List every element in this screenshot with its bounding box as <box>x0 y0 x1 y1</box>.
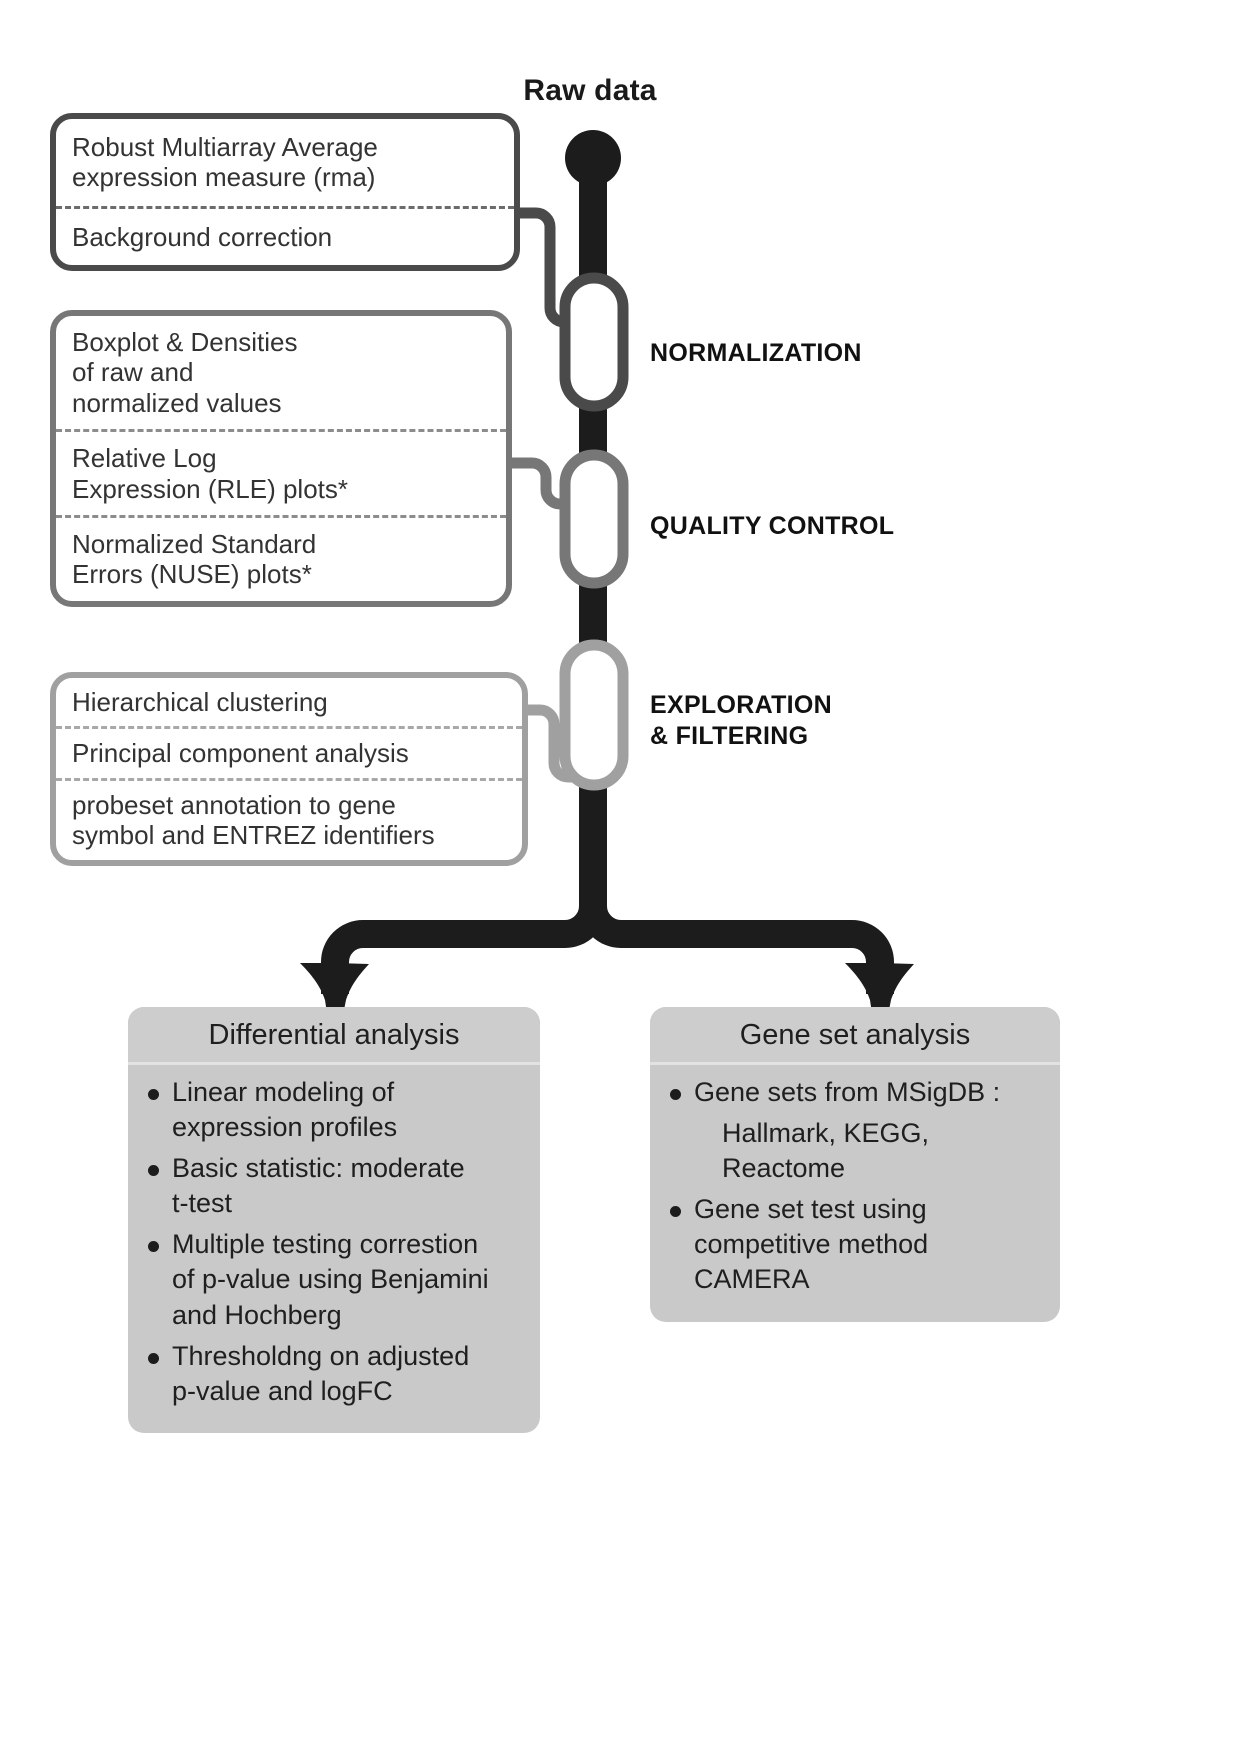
bullet-list: Gene sets from MSigDB : Hallmark, KEGG,R… <box>664 1075 1046 1298</box>
stage-marker-quality-control <box>565 455 623 583</box>
list-item: Gene sets from MSigDB : <box>664 1075 1046 1110</box>
outcome-panel-gene-set-analysis: Gene set analysis Gene sets from MSigDB … <box>650 1007 1060 1322</box>
panel-body: Linear modeling ofexpression profiles Ba… <box>128 1065 540 1433</box>
panel-body: Gene sets from MSigDB : Hallmark, KEGG,R… <box>650 1065 1060 1322</box>
stage-label-quality-control: QUALITY CONTROL <box>650 511 894 542</box>
list-item: Linear modeling ofexpression profiles <box>142 1075 526 1145</box>
stage-label-exploration: EXPLORATION& FILTERING <box>650 690 832 751</box>
outcome-panel-differential-analysis: Differential analysis Linear modeling of… <box>128 1007 540 1433</box>
stage-item: Relative LogExpression (RLE) plots* <box>56 429 506 515</box>
stage-marker-exploration <box>565 645 623 785</box>
stage-item: Background correction <box>56 206 514 265</box>
stage-label-normalization: NORMALIZATION <box>650 338 862 369</box>
list-item: Gene set test usingcompetitive methodCAM… <box>664 1192 1046 1297</box>
panel-title: Differential analysis <box>128 1007 540 1065</box>
panel-title: Gene set analysis <box>650 1007 1060 1065</box>
stage-item: probeset annotation to genesymbol and EN… <box>56 778 522 860</box>
list-item: Basic statistic: moderatet-test <box>142 1151 526 1221</box>
stage-item: Boxplot & Densitiesof raw andnormalized … <box>56 316 506 429</box>
branch-left <box>335 880 593 994</box>
workflow-diagram: Raw data NORMALIZATION QUALITY CONTROL E… <box>0 0 1240 1753</box>
stage-box-normalization: Robust Multiarray Averageexpression meas… <box>50 113 520 271</box>
page-title: Raw data <box>440 74 740 108</box>
list-item: Multiple testing correstionof p-value us… <box>142 1227 526 1332</box>
list-item: Thresholdng on adjustedp-value and logFC <box>142 1339 526 1409</box>
list-item: Hallmark, KEGG,Reactome <box>664 1116 1046 1186</box>
branch-right <box>593 880 880 994</box>
stage-item: Normalized StandardErrors (NUSE) plots* <box>56 515 506 601</box>
stage-marker-normalization <box>565 278 623 406</box>
stage-item: Principal component analysis <box>56 726 522 777</box>
stage-item: Hierarchical clustering <box>56 678 522 726</box>
stage-box-exploration: Hierarchical clustering Principal compon… <box>50 672 528 866</box>
stage-item: Robust Multiarray Averageexpression meas… <box>56 119 514 206</box>
bullet-list: Linear modeling ofexpression profiles Ba… <box>142 1075 526 1409</box>
stage-box-quality-control: Boxplot & Densitiesof raw andnormalized … <box>50 310 512 607</box>
